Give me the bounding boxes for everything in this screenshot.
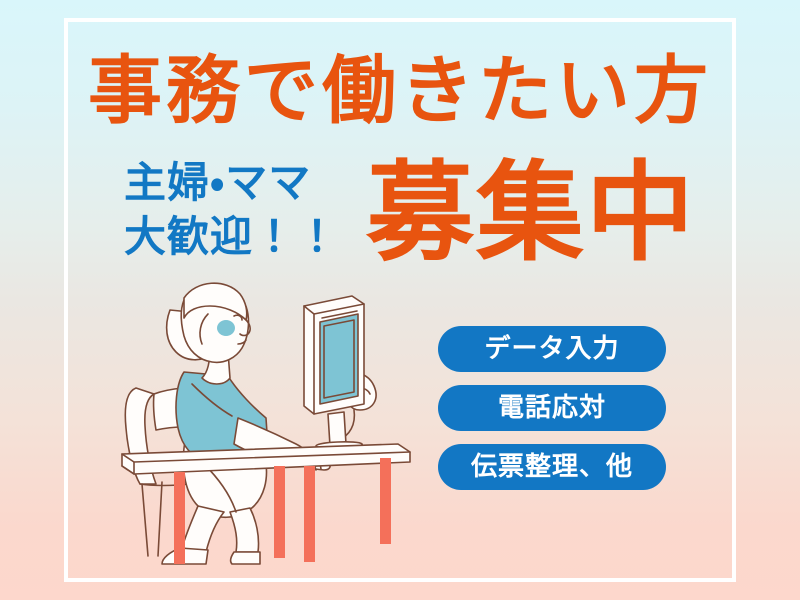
poster-root: 事務で働きたい方 主婦・ママ 大歓迎！！ 募集中 データ入力 電話応対 伝票整理… [0,0,800,600]
task-badge-phone-support[interactable]: 電話応対 [438,385,666,431]
desktop-monitor-icon [304,296,364,449]
subcopy: 主婦・ママ 大歓迎！！ [124,156,339,264]
recruiting-headline: 募集中 [366,160,696,268]
woman-head [167,283,251,384]
task-badge-data-entry[interactable]: データ入力 [438,326,666,372]
subcopy-line-1: 主婦・ママ [124,158,311,207]
task-badge-slip-filing[interactable]: 伝票整理、他 [438,444,666,490]
woman-at-desk-illustration [118,268,428,568]
illustration-svg [118,268,428,568]
task-badge-list: データ入力 電話応対 伝票整理、他 [438,326,668,490]
page-title: 事務で働きたい方 [0,54,800,128]
subcopy-line-2: 大歓迎！！ [124,210,339,264]
